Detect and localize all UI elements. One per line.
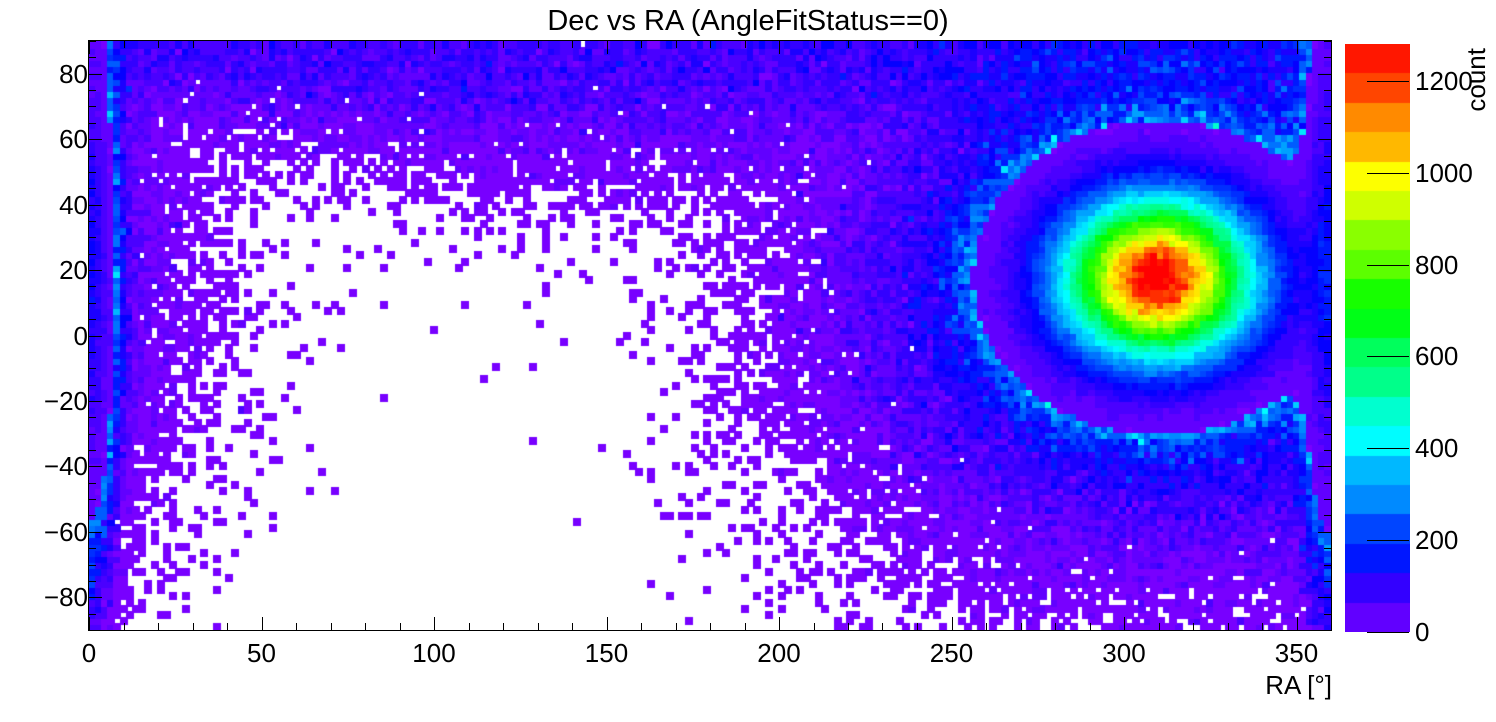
y-axis-tick-label: −20 (44, 386, 88, 416)
x-axis-tick-label: 250 (930, 638, 973, 668)
heatmap-canvas[interactable] (89, 41, 1331, 630)
color-bar-tick-label: 0 (1415, 617, 1429, 647)
color-bar-tick (1367, 265, 1409, 266)
color-bar-tick-label: 800 (1415, 250, 1458, 280)
plot-frame[interactable] (88, 40, 1332, 631)
x-axis-title: RA [°] (0, 670, 1332, 700)
color-bar-tick (1367, 81, 1409, 82)
y-axis-tick-label: 80 (59, 59, 88, 89)
color-bar-canvas (1345, 44, 1410, 632)
x-axis-tick-label: 100 (412, 638, 455, 668)
x-axis-tick-label: 350 (1275, 638, 1318, 668)
y-axis-tick-right (1324, 630, 1331, 631)
y-axis-tick-label: −40 (44, 451, 88, 481)
y-axis-tick-label: 60 (59, 124, 88, 154)
x-axis-tick-label: 50 (247, 638, 276, 668)
x-axis-tick-label: 300 (1102, 638, 1145, 668)
color-bar-tick (1367, 173, 1409, 174)
color-bar[interactable] (1345, 44, 1410, 632)
root-canvas: Dec vs RA (AngleFitStatus==0) 0501001502… (0, 0, 1496, 722)
page-title: Dec vs RA (AngleFitStatus==0) (0, 2, 1496, 40)
x-axis-tick-top (1331, 41, 1332, 48)
x-axis-tick-label: 200 (757, 638, 800, 668)
y-axis-tick-label: 0 (74, 321, 88, 351)
y-axis-tick-label: −80 (44, 582, 88, 612)
color-bar-tick (1367, 448, 1409, 449)
color-bar-tick (1367, 632, 1409, 633)
y-axis-tick (89, 630, 96, 631)
color-bar-tick (1367, 356, 1409, 357)
x-axis-tick-label: 0 (82, 638, 96, 668)
x-axis-tick-label: 150 (585, 638, 628, 668)
color-bar-title: count (1463, 48, 1489, 198)
color-bar-tick-label: 400 (1415, 433, 1458, 463)
y-axis-tick-label: 20 (59, 255, 88, 285)
y-axis-tick-label: −60 (44, 517, 88, 547)
y-axis-tick-label: 40 (59, 190, 88, 220)
color-bar-tick-label: 200 (1415, 525, 1458, 555)
color-bar-tick (1367, 540, 1409, 541)
color-bar-tick-label: 600 (1415, 341, 1458, 371)
x-axis-tick (1331, 623, 1332, 630)
